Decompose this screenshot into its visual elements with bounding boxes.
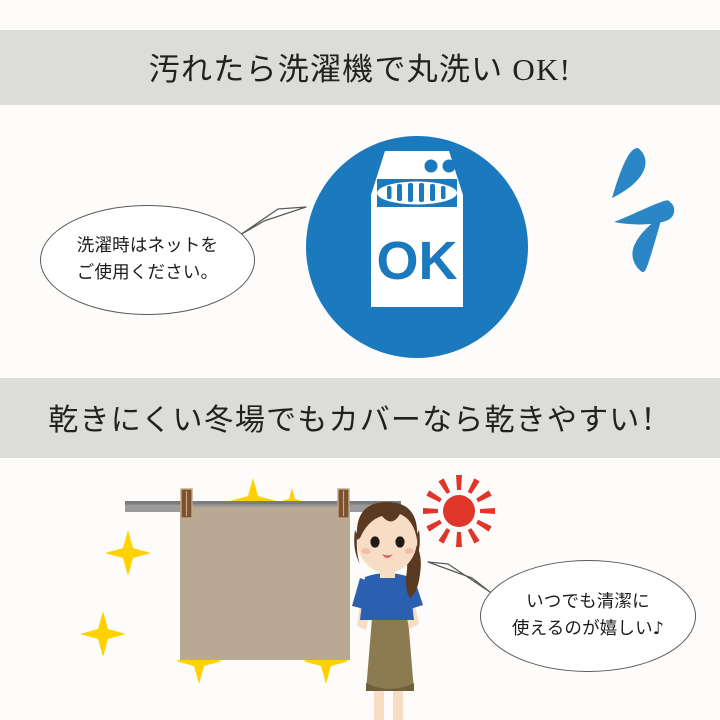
bubble-line-2: 使えるのが嬉しい♪ — [512, 616, 664, 643]
woman-character — [352, 502, 423, 720]
washing-machine-ok-icon: OK — [305, 133, 529, 361]
leg — [374, 688, 384, 720]
water-splash-marks — [594, 140, 690, 280]
leg — [393, 688, 403, 720]
infographic-page: 汚れたら洗濯機で丸洗い OK! — [0, 0, 720, 720]
eye — [395, 536, 404, 547]
banner-washing: 汚れたら洗濯機で丸洗い OK! — [0, 30, 720, 105]
speech-bubble-drying: いつでも清潔に 使えるのが嬉しい♪ — [480, 560, 696, 672]
bubble-line-2: ご使用ください。 — [77, 260, 218, 287]
sun-icon — [423, 475, 495, 547]
sparkle-icon — [80, 611, 126, 657]
panel-drying: いつでも清潔に 使えるのが嬉しい♪ — [0, 458, 720, 720]
speech-bubble-washing: 洗濯時はネットを ご使用ください。 — [40, 205, 255, 315]
splash-icon — [594, 140, 690, 280]
banner-drying-text: 乾きにくい冬場でもカバーなら乾きやすい！ — [48, 395, 671, 441]
bubble-line-1: いつでも清潔に — [526, 589, 650, 616]
speech-bubble-text: 洗濯時はネットを ご使用ください。 — [40, 205, 255, 315]
eye — [370, 536, 379, 547]
sparkle-icon — [105, 530, 151, 576]
skirt — [366, 618, 414, 691]
speech-bubble-text: いつでも清潔に 使えるのが嬉しい♪ — [480, 560, 696, 672]
bubble-line-1: 洗濯時はネットを — [77, 233, 218, 260]
panel-washing: OK 洗濯時はネットを ご使用ください。 — [0, 105, 720, 378]
hanging-cover-cloth — [180, 507, 350, 660]
banner-washing-text: 汚れたら洗濯機で丸洗い OK! — [149, 44, 571, 91]
washing-machine-ok-badge: OK — [305, 133, 529, 361]
badge-ok-label: OK — [377, 231, 458, 291]
banner-drying: 乾きにくい冬場でもカバーなら乾きやすい！ — [0, 378, 720, 458]
